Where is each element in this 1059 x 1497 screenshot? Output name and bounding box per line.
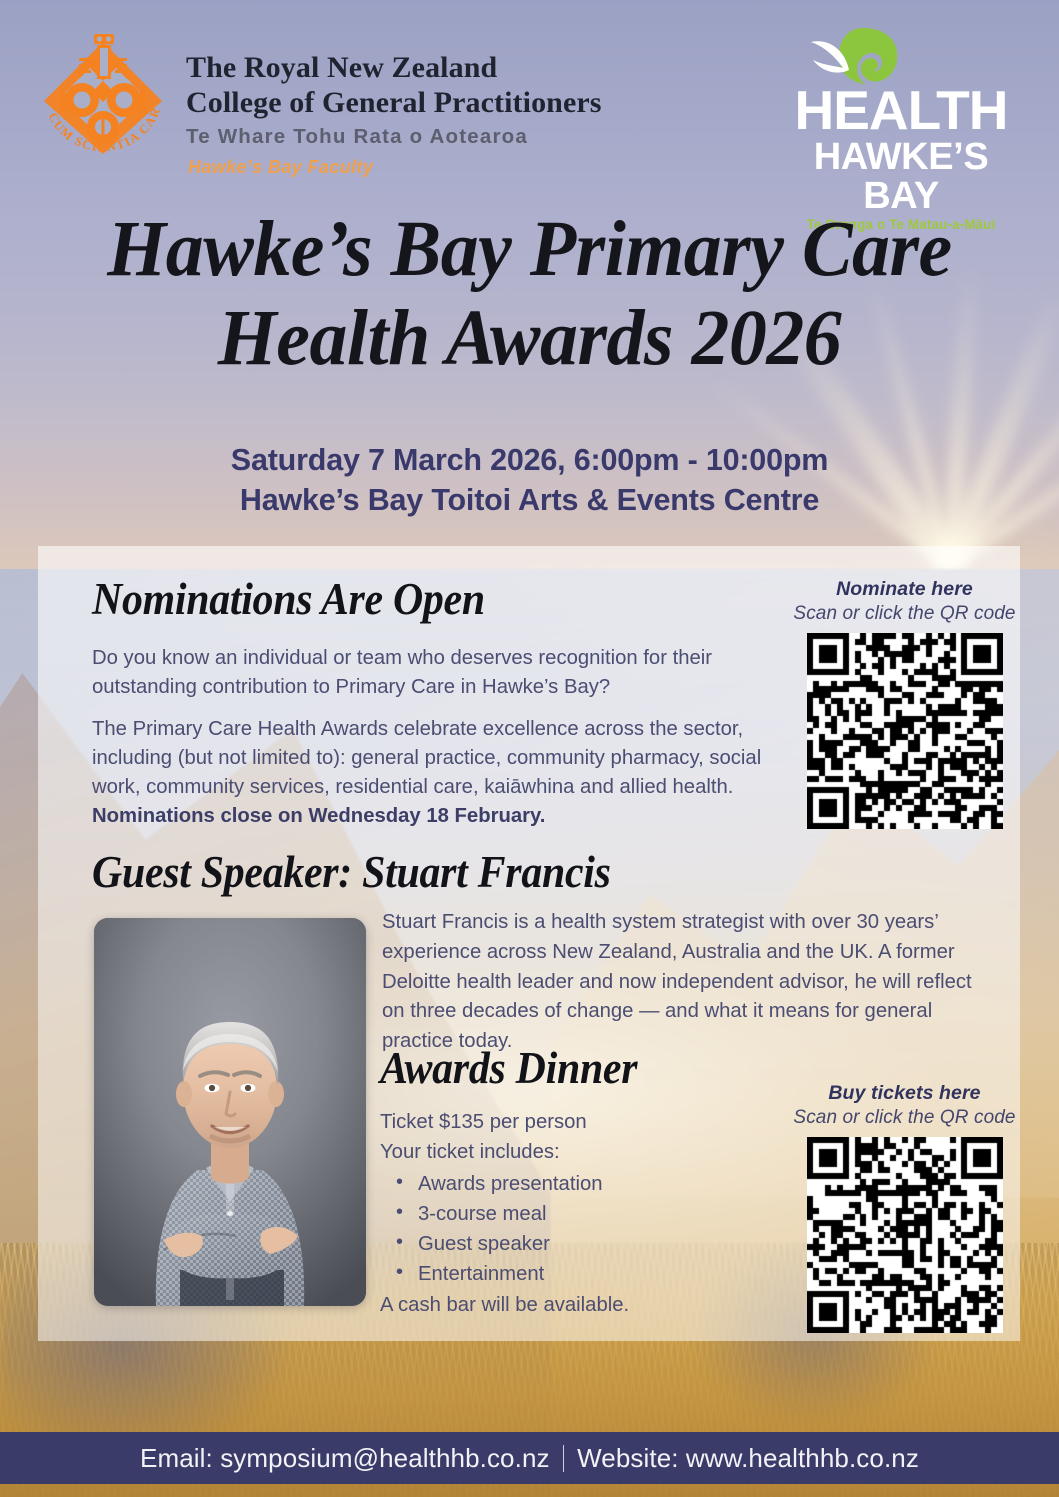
dinner-price: Ticket $135 per person xyxy=(380,1107,780,1137)
hhb-line1: HEALTH xyxy=(779,84,1023,137)
qr-tickets-title: Buy tickets here xyxy=(782,1082,1027,1105)
list-item: 3-course meal xyxy=(380,1199,780,1229)
nominations-para-2: The Primary Care Health Awards celebrate… xyxy=(92,715,772,831)
nominations-para-1: Do you know an individual or team who de… xyxy=(92,644,772,702)
poster-title: Hawke’s Bay Primary Care Health Awards 2… xyxy=(0,205,1059,384)
speaker-heading-wrap: Guest Speaker: Stuart Francis xyxy=(92,845,650,899)
koru-leaf-icon xyxy=(779,32,1023,88)
event-details: Saturday 7 March 2026, 6:00pm - 10:00pm … xyxy=(0,440,1059,521)
list-item: Entertainment xyxy=(380,1259,780,1289)
title-line-1: Hawke’s Bay Primary Care xyxy=(21,205,1038,294)
hhb-line2: HAWKE’S BAY xyxy=(779,138,1023,216)
footer-email[interactable]: Email: symposium@healthhb.co.nz xyxy=(140,1443,550,1474)
dinner-includes-label: Your ticket includes: xyxy=(380,1137,780,1167)
rnzcgp-logo: CUM SCIENTIA CARITAS The Royal New Zeala… xyxy=(34,28,602,178)
list-item: Guest speaker xyxy=(380,1229,780,1259)
rnzcgp-faculty: Hawke’s Bay Faculty xyxy=(188,157,602,178)
footer-bar: Email: symposium@healthhb.co.nz Website:… xyxy=(0,1432,1059,1484)
poster-root: CUM SCIENTIA CARITAS The Royal New Zeala… xyxy=(0,0,1059,1497)
health-hawkes-bay-logo: HEALTH HAWKE’S BAY Te Oranga o Te Matau-… xyxy=(779,32,1023,232)
title-line-2: Health Awards 2026 xyxy=(21,294,1038,383)
nominations-close-date: Nominations close on Wednesday 18 Februa… xyxy=(92,805,545,827)
dinner-cash-bar: A cash bar will be available. xyxy=(380,1290,780,1320)
rnzcgp-line1: The Royal New Zealand xyxy=(186,50,602,85)
list-item: Awards presentation xyxy=(380,1169,780,1199)
footer-divider xyxy=(563,1445,565,1472)
dinner-includes-list: Awards presentation 3-course meal Guest … xyxy=(380,1169,780,1289)
rnzcgp-line3-maori: Te Whare Tohu Rata o Aotearoa xyxy=(186,125,602,149)
qr-tickets-subtitle: Scan or click the QR code xyxy=(782,1107,1027,1129)
speaker-bio: Stuart Francis is a health system strate… xyxy=(382,908,982,1057)
nominations-section: Nominations Are Open Do you know an indi… xyxy=(92,572,772,831)
awards-dinner-section: Awards Dinner Ticket $135 per person You… xyxy=(380,1042,780,1320)
rnzcgp-line2: College of General Practitioners xyxy=(186,85,602,120)
qr-tickets-block[interactable]: Buy tickets here Scan or click the QR co… xyxy=(782,1082,1027,1333)
qr-code-icon[interactable] xyxy=(807,633,1003,829)
dinner-heading: Awards Dinner xyxy=(380,1042,752,1095)
qr-code-icon[interactable] xyxy=(807,1137,1003,1333)
speaker-heading: Guest Speaker: Stuart Francis xyxy=(92,845,611,899)
speaker-bio-wrap: Stuart Francis is a health system strate… xyxy=(382,908,982,1057)
event-datetime: Saturday 7 March 2026, 6:00pm - 10:00pm xyxy=(0,440,1059,480)
qr-nominate-title: Nominate here xyxy=(782,578,1027,601)
event-venue: Hawke’s Bay Toitoi Arts & Events Centre xyxy=(0,480,1059,520)
qr-nominate-block[interactable]: Nominate here Scan or click the QR code xyxy=(782,578,1027,829)
nominations-heading: Nominations Are Open xyxy=(92,572,724,626)
footer-website[interactable]: Website: www.healthhb.co.nz xyxy=(577,1443,919,1474)
qr-nominate-subtitle: Scan or click the QR code xyxy=(782,603,1027,625)
speaker-portrait xyxy=(94,918,366,1306)
nominations-para-2-plain: The Primary Care Health Awards celebrate… xyxy=(92,718,761,798)
rnzcgp-crest-icon: CUM SCIENTIA CARITAS xyxy=(34,28,172,168)
